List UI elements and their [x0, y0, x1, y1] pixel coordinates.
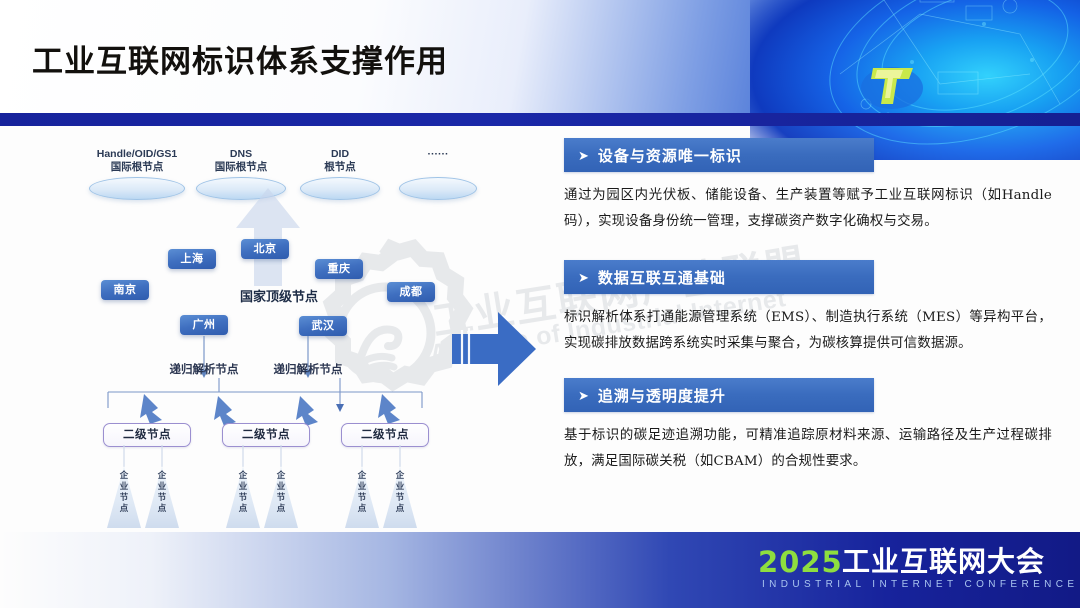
- slide: 工业互联网标识体系支撑作用 工业互联网产业联盟 Alliance of Indu…: [0, 0, 1080, 608]
- section-title: 数据互联互通基础: [598, 267, 726, 288]
- enterprise-node-label: 企业节点: [264, 471, 298, 515]
- second-level-node-3[interactable]: 二级节点: [341, 423, 429, 447]
- header-navy-rule: [0, 113, 1080, 126]
- city-node-chongqing[interactable]: 重庆: [315, 259, 363, 279]
- second-level-node-1[interactable]: 二级节点: [103, 423, 191, 447]
- chevron-right-icon: ➤: [578, 389, 589, 402]
- content-panel: ➤ 设备与资源唯一标识 通过为园区内光伏板、储能设备、生产装置等赋予工业互联网标…: [564, 138, 1056, 474]
- recursive-node-2[interactable]: 递归解析节点: [260, 361, 356, 377]
- enterprise-node[interactable]: 企业节点: [107, 466, 141, 528]
- section-spacer: [564, 234, 1056, 260]
- recursive-node-1[interactable]: 递归解析节点: [156, 361, 252, 377]
- tech-rings-icon: [770, 0, 1080, 154]
- enterprise-node[interactable]: 企业节点: [264, 466, 298, 528]
- city-node-wuhan[interactable]: 武汉: [299, 316, 347, 336]
- city-node-chengdu[interactable]: 成都: [387, 282, 435, 302]
- city-node-guangzhou[interactable]: 广州: [180, 315, 228, 335]
- city-node-shanghai[interactable]: 上海: [168, 249, 216, 269]
- footer-year: 2025: [758, 546, 843, 578]
- enterprise-node-label: 企业节点: [145, 471, 179, 515]
- enterprise-node-label: 企业节点: [107, 471, 141, 515]
- root-node-label-line2: 根节点: [296, 161, 384, 174]
- enterprise-node-label: 企业节点: [226, 471, 260, 515]
- national-top-node-label: 国家顶级节点: [214, 286, 344, 305]
- footer-title-cn: 工业互联网大会: [842, 546, 1045, 578]
- section-header-2: ➤ 数据互联互通基础: [564, 260, 874, 294]
- section-body-1: 通过为园区内光伏板、储能设备、生产装置等赋予工业互联网标识（如Handle码），…: [564, 183, 1052, 234]
- flow-right-arrow-icon: [452, 306, 536, 392]
- section-title: 追溯与透明度提升: [598, 385, 726, 406]
- conference-footer-logo: 2025 工业互联网大会 INDUSTRIAL INTERNET CONFERE…: [758, 546, 1058, 594]
- second-level-node-2[interactable]: 二级节点: [222, 423, 310, 447]
- section-body-2: 标识解析体系打通能源管理系统（EMS）、制造执行系统（MES）等异构平台，实现碳…: [564, 305, 1052, 356]
- root-node-label-line1: DID: [296, 148, 384, 161]
- root-node-label-line1: Handle/OID/GS1: [82, 148, 192, 161]
- enterprise-node[interactable]: 企业节点: [383, 466, 417, 528]
- root-node-label-line1: ······: [395, 148, 481, 161]
- city-node-beijing[interactable]: 北京: [241, 239, 289, 259]
- section-header-3: ➤ 追溯与透明度提升: [564, 378, 874, 412]
- chevron-right-icon: ➤: [578, 271, 589, 284]
- section-body-3: 基于标识的碳足迹追溯功能，可精准追踪原材料来源、运输路径及生产过程碳排放，满足国…: [564, 423, 1052, 474]
- enterprise-node[interactable]: 企业节点: [145, 466, 179, 528]
- conference-t-logo-icon: [859, 58, 925, 110]
- enterprise-node-label: 企业节点: [345, 471, 379, 515]
- root-node-handle: Handle/OID/GS1 国际根节点: [82, 148, 192, 200]
- root-node-label-line2: 国际根节点: [82, 161, 192, 174]
- root-node-disc: [89, 177, 185, 200]
- section-spacer: [564, 356, 1056, 378]
- enterprise-node[interactable]: 企业节点: [226, 466, 260, 528]
- city-node-nanjing[interactable]: 南京: [101, 280, 149, 300]
- footer-title-en: INDUSTRIAL INTERNET CONFERENCE: [762, 579, 1078, 590]
- root-node-disc: [399, 177, 477, 200]
- root-node-more: ······: [395, 148, 481, 200]
- chevron-right-icon: ➤: [578, 149, 589, 162]
- upward-flow-arrow-icon: [236, 188, 300, 286]
- enterprise-node[interactable]: 企业节点: [345, 466, 379, 528]
- root-node-label-line2: [395, 161, 481, 174]
- root-node-did: DID 根节点: [296, 148, 384, 200]
- section-header-1: ➤ 设备与资源唯一标识: [564, 138, 874, 172]
- section-title: 设备与资源唯一标识: [598, 145, 742, 166]
- enterprise-node-label: 企业节点: [383, 471, 417, 515]
- root-node-label-line1: DNS: [193, 148, 289, 161]
- page-title: 工业互联网标识体系支撑作用: [32, 36, 448, 81]
- root-node-disc: [300, 177, 380, 200]
- root-node-label-line2: 国际根节点: [193, 161, 289, 174]
